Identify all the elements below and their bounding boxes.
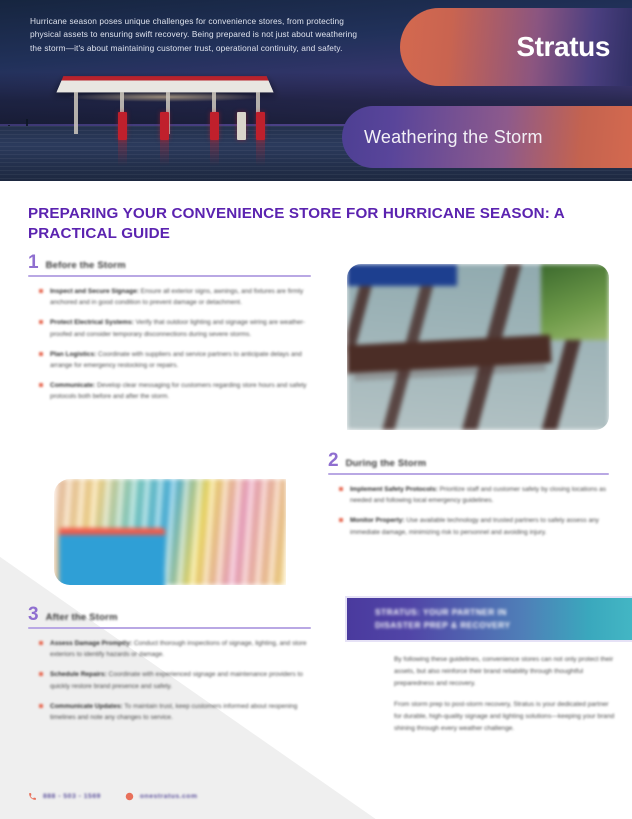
list-item: Monitor Property: Use available technolo… [350, 515, 609, 537]
hero-banner: Hurricane season poses unique challenges… [0, 0, 632, 181]
cta-paragraph-1: By following these guidelines, convenien… [394, 654, 616, 690]
steel-canopy-structure-photo [347, 264, 609, 430]
list-item: Assess Damage Promptly: Conduct thorough… [50, 638, 311, 660]
footer-phone[interactable]: 888 - 503 - 1569 [28, 792, 101, 801]
page-title: PREPARING YOUR CONVENIENCE STORE FOR HUR… [28, 204, 603, 244]
section-after-the-storm: 3 After the Storm Assess Damage Promptly… [28, 606, 311, 732]
section-during-the-storm: 2 During the Storm Implement Safety Prot… [328, 452, 609, 547]
list-item: Protect Electrical Systems: Verify that … [50, 317, 311, 339]
globe-icon [125, 792, 134, 801]
section-2-title: During the Storm [346, 458, 427, 470]
cta-banner-text: STRATUS: YOUR PARTNER INDISASTER PREP & … [347, 606, 511, 632]
cta-body-text: By following these guidelines, convenien… [394, 654, 616, 744]
section-before-the-storm: 1 Before the Storm Inspect and Secure Si… [28, 254, 311, 411]
infographic-page: Hurricane season poses unique challenges… [0, 0, 632, 819]
list-item: Implement Safety Protocols: Prioritize s… [350, 484, 609, 506]
list-item: Inspect and Secure Signage: Ensure all e… [50, 286, 311, 308]
section-3-rule [28, 627, 311, 629]
section-1-number: 1 [28, 254, 39, 272]
phone-icon [28, 792, 37, 801]
list-item: Plan Logistics: Coordinate with supplier… [50, 349, 311, 371]
section-3-title: After the Storm [46, 612, 118, 624]
section-3-bullets: Assess Damage Promptly: Conduct thorough… [28, 638, 311, 723]
section-1-header: 1 Before the Storm [28, 254, 311, 272]
convenience-store-products-photo [54, 479, 286, 585]
section-3-header: 3 After the Storm [28, 606, 311, 624]
section-2-bullets: Implement Safety Protocols: Prioritize s… [328, 484, 609, 538]
hero-intro-text: Hurricane season poses unique challenges… [30, 15, 360, 55]
footer-website-text: onestratus.com [140, 793, 198, 800]
stratus-logo-pill: Stratus [400, 8, 632, 86]
list-item: Communicate: Develop clear messaging for… [50, 380, 311, 402]
hero-title-text: Weathering the Storm [364, 127, 543, 148]
section-2-header: 2 During the Storm [328, 452, 609, 470]
footer: 888 - 503 - 1569 onestratus.com [28, 792, 198, 801]
section-2-number: 2 [328, 452, 339, 470]
gas-station-canopy [56, 76, 273, 92]
list-item: Communicate Updates: To maintain trust, … [50, 701, 311, 723]
content-area: PREPARING YOUR CONVENIENCE STORE FOR HUR… [0, 181, 632, 819]
footer-website[interactable]: onestratus.com [125, 792, 198, 801]
section-2-rule [328, 473, 609, 475]
section-1-bullets: Inspect and Secure Signage: Ensure all e… [28, 286, 311, 402]
cta-banner: STRATUS: YOUR PARTNER INDISASTER PREP & … [347, 598, 632, 640]
brand-logo-text: Stratus [516, 31, 610, 63]
section-3-number: 3 [28, 606, 39, 624]
section-1-title: Before the Storm [46, 260, 126, 272]
hero-title-pill: Weathering the Storm [342, 106, 632, 168]
cta-paragraph-2: From storm prep to post-storm recovery, … [394, 699, 616, 735]
section-1-rule [28, 275, 311, 277]
footer-phone-text: 888 - 503 - 1569 [43, 793, 101, 800]
list-item: Schedule Repairs: Coordinate with experi… [50, 669, 311, 691]
